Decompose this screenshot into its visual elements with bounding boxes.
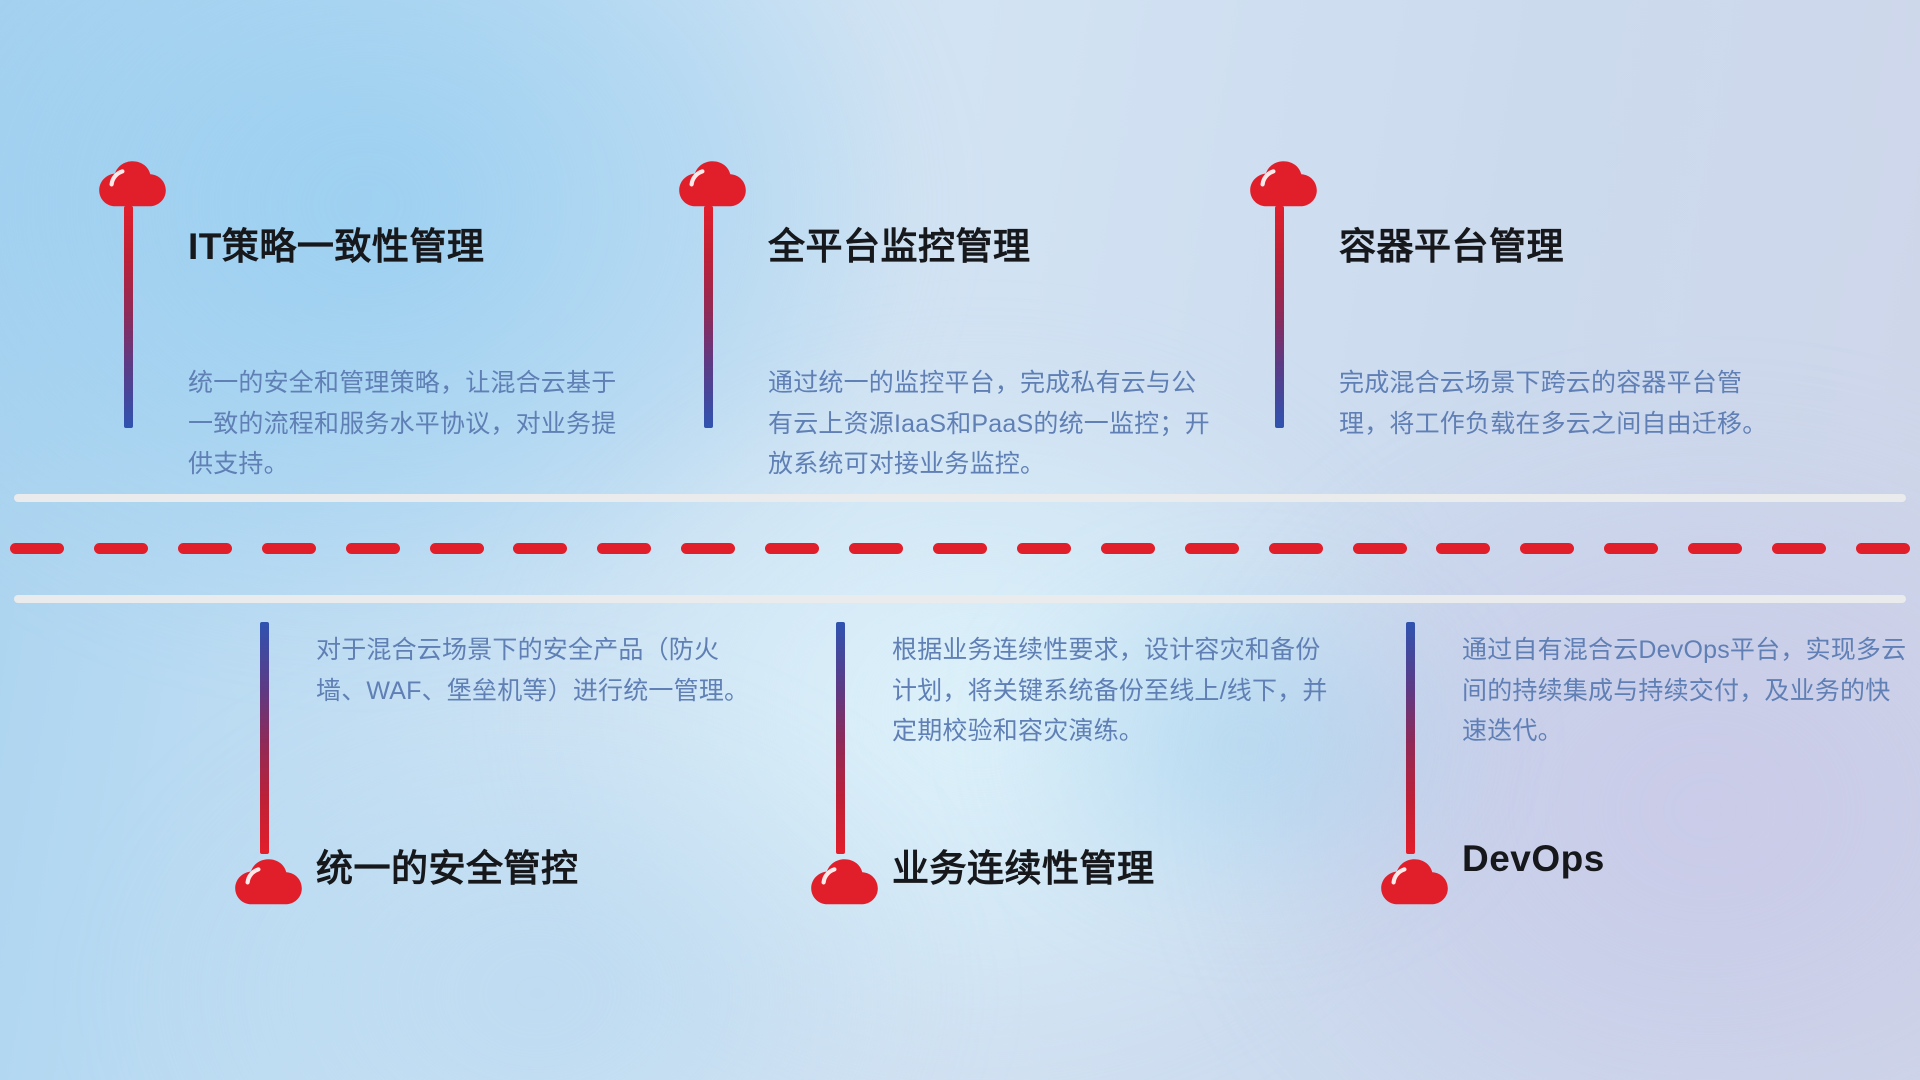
card-title: DevOps [1462, 838, 1605, 880]
cloud-marker-4 [232, 858, 304, 930]
dash-segment [1269, 543, 1323, 554]
cloud-icon [232, 858, 304, 908]
connector-stem-4 [260, 622, 269, 854]
dash-segment [1436, 543, 1490, 554]
dash-segment [1688, 543, 1742, 554]
dash-segment [1101, 543, 1155, 554]
card-title: 业务连续性管理 [892, 838, 1155, 892]
dash-segment [1772, 543, 1826, 554]
cloud-icon [808, 858, 880, 908]
card-body: 完成混合云场景下跨云的容器平台管理，将工作负载在多云之间自由迁移。 [1339, 363, 1789, 444]
card-title: 容器平台管理 [1339, 216, 1564, 270]
card-title: IT策略一致性管理 [188, 216, 484, 270]
divider-rule-bottom [14, 595, 1906, 603]
dash-segment [10, 543, 64, 554]
card-body: 对于混合云场景下的安全产品（防火墙、WAF、堡垒机等）进行统一管理。 [316, 630, 766, 711]
connector-stem-5 [836, 622, 845, 854]
cloud-icon [96, 160, 168, 210]
card-body: 根据业务连续性要求，设计容灾和备份计划，将关键系统备份至线上/线下，并定期校验和… [892, 630, 1342, 752]
card-title: 全平台监控管理 [768, 216, 1031, 270]
dash-segment [430, 543, 484, 554]
divider [0, 488, 1920, 608]
cloud-icon [676, 160, 748, 210]
card-title: 统一的安全管控 [316, 838, 579, 892]
dash-segment [1353, 543, 1407, 554]
dash-segment [262, 543, 316, 554]
card-body: 统一的安全和管理策略，让混合云基于一致的流程和服务水平协议，对业务提供支持。 [188, 363, 638, 485]
dash-segment [178, 543, 232, 554]
cloud-icon [1247, 160, 1319, 210]
card-body: 通过统一的监控平台，完成私有云与公有云上资源IaaS和PaaS的统一监控；开放系… [768, 363, 1218, 485]
divider-dashed-line [0, 543, 1920, 554]
divider-rule-top [14, 494, 1906, 502]
dash-segment [681, 543, 735, 554]
connector-stem-6 [1406, 622, 1415, 854]
cloud-marker-6 [1378, 858, 1450, 930]
dash-segment [1017, 543, 1071, 554]
connector-stem-3 [1275, 206, 1284, 428]
connector-stem-2 [704, 206, 713, 428]
dash-segment [1604, 543, 1658, 554]
dash-segment [513, 543, 567, 554]
connector-stem-1 [124, 206, 133, 428]
dash-segment [849, 543, 903, 554]
dash-segment [1185, 543, 1239, 554]
card-body: 通过自有混合云DevOps平台，实现多云间的持续集成与持续交付，及业务的快速迭代… [1462, 630, 1912, 752]
dash-segment [933, 543, 987, 554]
infographic-canvas: IT策略一致性管理 统一的安全和管理策略，让混合云基于一致的流程和服务水平协议，… [0, 0, 1920, 1080]
dash-segment [1856, 543, 1910, 554]
dash-segment [597, 543, 651, 554]
dash-segment [94, 543, 148, 554]
dash-segment [1520, 543, 1574, 554]
dash-segment [346, 543, 400, 554]
cloud-icon [1378, 858, 1450, 908]
dash-segment [765, 543, 819, 554]
cloud-marker-5 [808, 858, 880, 930]
